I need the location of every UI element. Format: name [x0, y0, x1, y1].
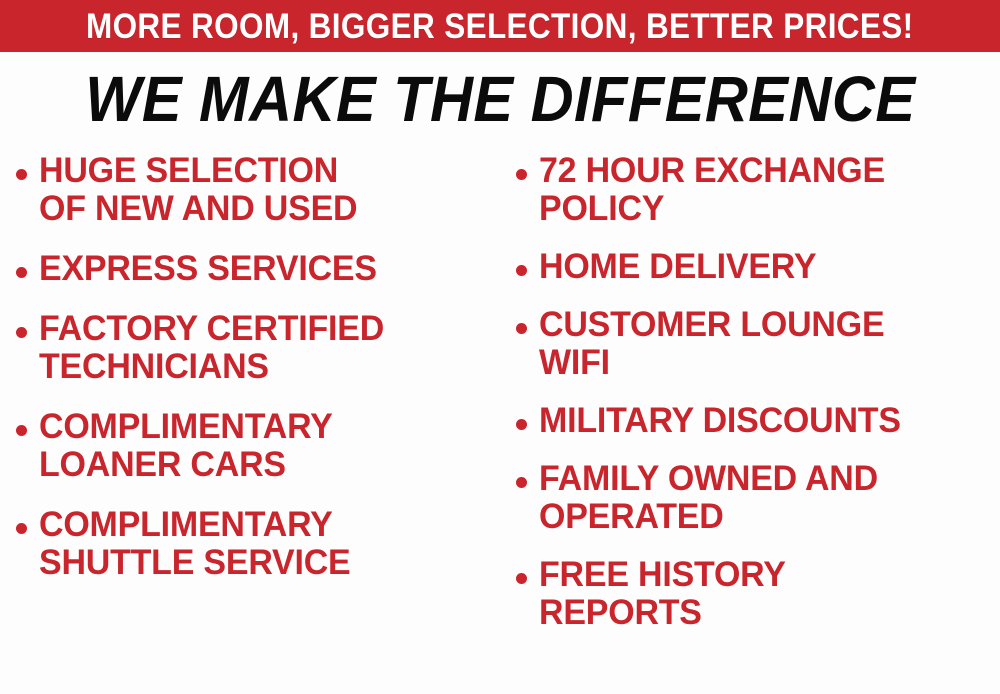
- top-banner: MORE ROOM, BIGGER SELECTION, BETTER PRIC…: [0, 0, 1000, 52]
- list-item-label: COMPLIMENTARY SHUTTLE SERVICE: [39, 506, 351, 582]
- list-item-label: CUSTOMER LOUNGE WIFI: [539, 306, 884, 382]
- list-item-label: HUGE SELECTION OF NEW AND USED: [39, 152, 357, 228]
- list-item: CUSTOMER LOUNGE WIFI: [516, 306, 1000, 382]
- list-item-label: FACTORY CERTIFIED TECHNICIANS: [39, 310, 384, 386]
- list-item-label: HOME DELIVERY: [539, 248, 816, 286]
- bullet-dot-icon: [516, 477, 527, 488]
- main-headline-container: WE MAKE THE DIFFERENCE: [0, 58, 1000, 140]
- bullet-dot-icon: [516, 573, 527, 584]
- list-item: COMPLIMENTARY SHUTTLE SERVICE: [16, 506, 500, 582]
- list-item-label: FREE HISTORY REPORTS: [539, 556, 786, 632]
- benefits-column-right: 72 HOUR EXCHANGE POLICY HOME DELIVERY CU…: [500, 152, 1000, 694]
- list-item: HUGE SELECTION OF NEW AND USED: [16, 152, 500, 228]
- bullet-dot-icon: [516, 169, 527, 180]
- promo-poster: MORE ROOM, BIGGER SELECTION, BETTER PRIC…: [0, 0, 1000, 694]
- list-item: 72 HOUR EXCHANGE POLICY: [516, 152, 1000, 228]
- bullet-dot-icon: [516, 419, 527, 430]
- list-item: MILITARY DISCOUNTS: [516, 402, 1000, 440]
- bullet-dot-icon: [16, 169, 27, 180]
- benefits-columns: HUGE SELECTION OF NEW AND USED EXPRESS S…: [0, 152, 1000, 694]
- bullet-dot-icon: [16, 425, 27, 436]
- bullet-dot-icon: [16, 327, 27, 338]
- bullet-dot-icon: [16, 523, 27, 534]
- list-item-label: FAMILY OWNED AND OPERATED: [539, 460, 878, 536]
- banner-headline-text: MORE ROOM, BIGGER SELECTION, BETTER PRIC…: [86, 9, 914, 44]
- list-item: FREE HISTORY REPORTS: [516, 556, 1000, 632]
- benefits-column-left: HUGE SELECTION OF NEW AND USED EXPRESS S…: [0, 152, 500, 694]
- list-item: COMPLIMENTARY LOANER CARS: [16, 408, 500, 484]
- list-item-label: 72 HOUR EXCHANGE POLICY: [539, 152, 885, 228]
- bullet-dot-icon: [516, 323, 527, 334]
- bullet-dot-icon: [16, 267, 27, 278]
- page-title: WE MAKE THE DIFFERENCE: [85, 67, 915, 131]
- list-item-label: MILITARY DISCOUNTS: [539, 402, 901, 440]
- list-item: EXPRESS SERVICES: [16, 250, 500, 288]
- list-item-label: EXPRESS SERVICES: [39, 250, 377, 288]
- list-item: FACTORY CERTIFIED TECHNICIANS: [16, 310, 500, 386]
- list-item-label: COMPLIMENTARY LOANER CARS: [39, 408, 333, 484]
- list-item: HOME DELIVERY: [516, 248, 1000, 286]
- list-item: FAMILY OWNED AND OPERATED: [516, 460, 1000, 536]
- bullet-dot-icon: [516, 265, 527, 276]
